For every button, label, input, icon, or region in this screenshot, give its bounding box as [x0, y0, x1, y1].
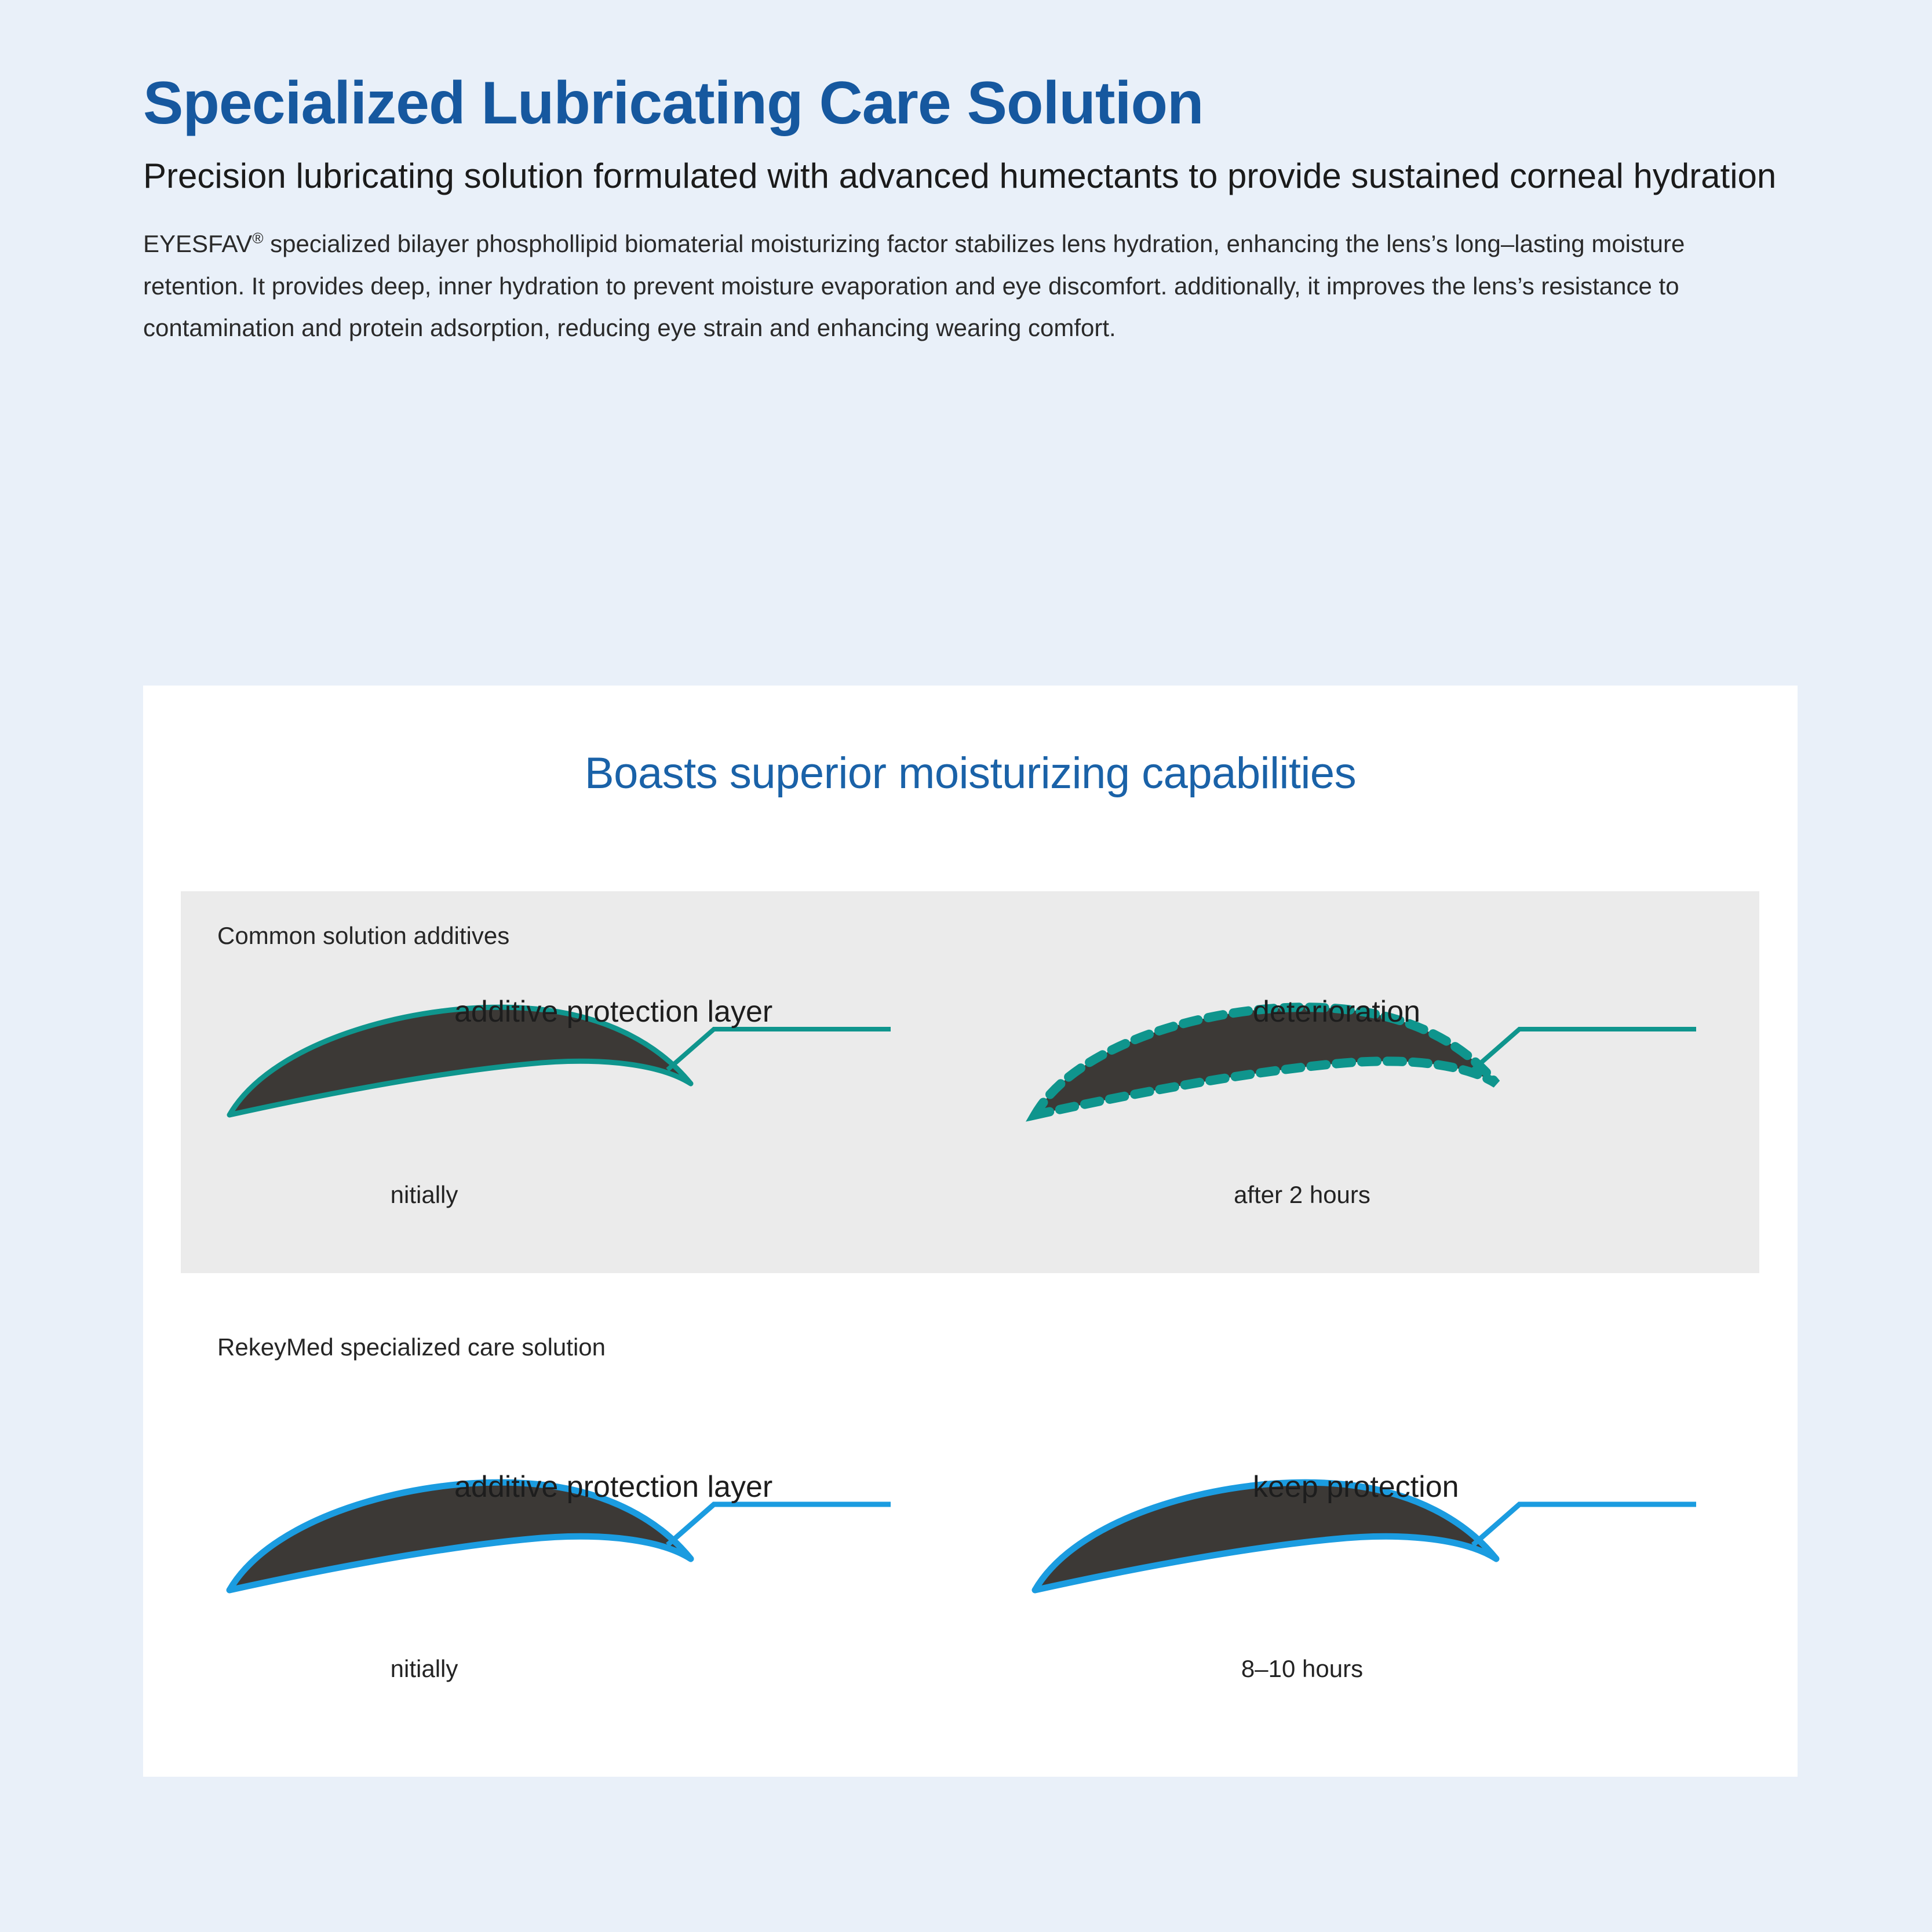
brand-name: EYESFAV [143, 230, 252, 257]
figure-common-initially: additive protection layer nitially [204, 978, 923, 1251]
callout-leader-line [668, 1029, 891, 1070]
callout-label: additive protection layer [454, 994, 772, 1029]
panel-common-solution-additives: Common solution additives additive prote… [181, 891, 1759, 1273]
callout-leader-line [668, 1504, 891, 1545]
description-text: specialized bilayer phosphollipid biomat… [143, 230, 1685, 341]
callout-label: keep protection [1253, 1470, 1459, 1504]
registered-trademark-icon: ® [252, 229, 263, 247]
callout-leader-line [1473, 1029, 1696, 1070]
figure-caption: 8–10 hours [1082, 1655, 1522, 1683]
callout-leader-line [1473, 1504, 1696, 1545]
page-subtitle: Precision lubricating solution formulate… [143, 154, 1783, 199]
figure-rekeymed-initially: additive protection layer nitially [204, 1453, 923, 1726]
figure-caption: after 2 hours [1082, 1181, 1522, 1209]
callout-label: additive protection layer [454, 1470, 772, 1504]
figure-rekeymed-8-10-hours: keep protection 8–10 hours [1009, 1453, 1728, 1726]
panel-label: RekeyMed specialized care solution [217, 1333, 606, 1361]
panel-label: Common solution additives [217, 922, 509, 950]
figure-common-after-2-hours: deterioration after 2 hours [1009, 978, 1728, 1251]
card-title: Boasts superior moisturizing capabilitie… [143, 748, 1798, 799]
page-title: Specialized Lubricating Care Solution [143, 70, 1800, 137]
figure-caption: nitially [204, 1181, 644, 1209]
page-description: EYESFAV® specialized bilayer phosphollip… [143, 223, 1783, 349]
callout-label: deterioration [1253, 994, 1420, 1029]
panel-rekeymed-care-solution: RekeyMed specialized care solution addit… [181, 1329, 1759, 1711]
comparison-card: Boasts superior moisturizing capabilitie… [143, 686, 1798, 1777]
page-header: Specialized Lubricating Care Solution Pr… [143, 70, 1800, 349]
figure-caption: nitially [204, 1655, 644, 1683]
